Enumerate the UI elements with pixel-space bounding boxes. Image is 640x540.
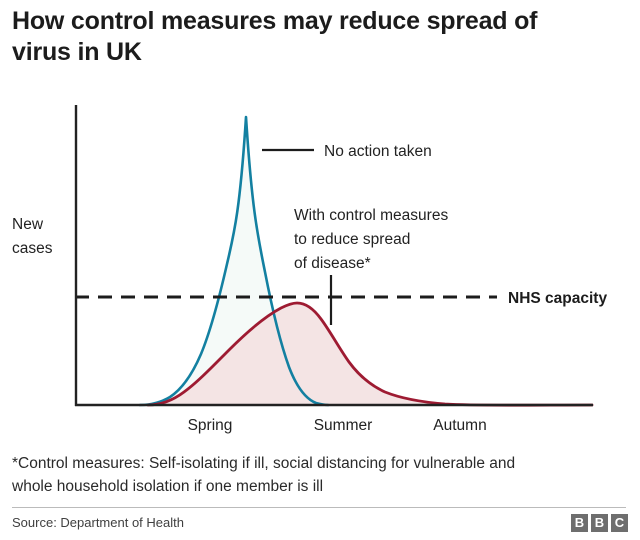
x-tick-label-spring: Spring <box>188 417 233 434</box>
page-title: How control measures may reduce spread o… <box>12 6 624 68</box>
nhs-capacity-label: NHS capacity <box>508 290 607 307</box>
y-axis-label-line-1: New <box>12 216 44 233</box>
bbc-logo-letter-3: C <box>611 514 628 532</box>
annotation-control-measures-line-3: of disease* <box>294 255 371 272</box>
chart-svg: New cases Spring Summer Autumn No action… <box>0 92 640 442</box>
y-axis-label-line-2: cases <box>12 240 53 257</box>
footnote-line-1: *Control measures: Self-isolating if ill… <box>12 452 626 475</box>
annotation-control-measures-line-1: With control measures <box>294 207 448 224</box>
chart-title-line-2: virus in UK <box>12 38 142 66</box>
bbc-logo: B B C <box>571 514 628 532</box>
footnote-line-2: whole household isolation if one member … <box>12 475 626 498</box>
x-tick-label-autumn: Autumn <box>433 417 486 434</box>
chart-title-line-1: How control measures may reduce spread o… <box>12 7 537 35</box>
annotation-no-action-taken: No action taken <box>324 143 432 160</box>
footnote: *Control measures: Self-isolating if ill… <box>12 452 626 498</box>
bbc-logo-letter-2: B <box>591 514 608 532</box>
source-divider <box>12 507 626 508</box>
annotation-control-measures-line-2: to reduce spread <box>294 231 410 248</box>
x-tick-label-summer: Summer <box>314 417 373 434</box>
chart-page: How control measures may reduce spread o… <box>0 0 640 540</box>
chart-title: How control measures may reduce spread o… <box>12 6 624 68</box>
source-text: Source: Department of Health <box>12 514 184 532</box>
chart-figure: New cases Spring Summer Autumn No action… <box>0 92 640 442</box>
bbc-logo-letter-1: B <box>571 514 588 532</box>
